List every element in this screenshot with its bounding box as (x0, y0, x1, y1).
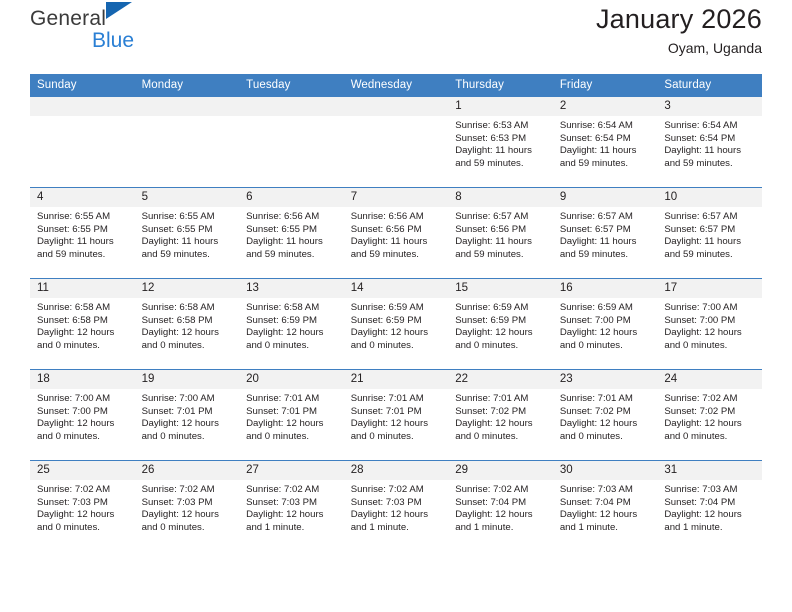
day-cell[interactable]: 20Sunrise: 7:01 AMSunset: 7:01 PMDayligh… (239, 370, 344, 461)
sunset-text: Sunset: 6:59 PM (246, 315, 336, 328)
sunset-text: Sunset: 6:59 PM (351, 315, 441, 328)
daylight-text-line2: and 0 minutes. (142, 340, 232, 353)
day-details: Sunrise: 7:02 AMSunset: 7:02 PMDaylight:… (657, 389, 762, 443)
daylight-text-line2: and 0 minutes. (246, 431, 336, 444)
day-cell[interactable]: 15Sunrise: 6:59 AMSunset: 6:59 PMDayligh… (448, 279, 553, 370)
daylight-text-line1: Daylight: 12 hours (560, 418, 650, 431)
day-details: Sunrise: 7:00 AMSunset: 7:00 PMDaylight:… (30, 389, 135, 443)
daylight-text-line2: and 0 minutes. (560, 431, 650, 444)
sunrise-text: Sunrise: 6:56 AM (246, 211, 336, 224)
daylight-text-line1: Daylight: 12 hours (246, 418, 336, 431)
day-details: Sunrise: 6:59 AMSunset: 6:59 PMDaylight:… (448, 298, 553, 352)
sunrise-text: Sunrise: 7:01 AM (455, 393, 545, 406)
daylight-text-line1: Daylight: 12 hours (142, 418, 232, 431)
day-number: 19 (135, 370, 240, 389)
daylight-text-line2: and 0 minutes. (455, 431, 545, 444)
day-details: Sunrise: 7:01 AMSunset: 7:02 PMDaylight:… (448, 389, 553, 443)
sunrise-text: Sunrise: 6:59 AM (560, 302, 650, 315)
daylight-text-line1: Daylight: 12 hours (455, 418, 545, 431)
daylight-text-line1: Daylight: 11 hours (455, 236, 545, 249)
day-number (239, 97, 344, 116)
sunset-text: Sunset: 7:03 PM (246, 497, 336, 510)
daylight-text-line2: and 0 minutes. (37, 340, 127, 353)
daylight-text-line1: Daylight: 12 hours (455, 327, 545, 340)
sunset-text: Sunset: 7:04 PM (455, 497, 545, 510)
daylight-text-line1: Daylight: 12 hours (664, 418, 754, 431)
day-number: 31 (657, 461, 762, 480)
weekday-header-wednesday: Wednesday (344, 74, 449, 97)
daylight-text-line2: and 1 minute. (560, 522, 650, 535)
sunset-text: Sunset: 6:55 PM (142, 224, 232, 237)
page-subtitle: Oyam, Uganda (596, 38, 762, 58)
day-number: 9 (553, 188, 658, 207)
day-number: 23 (553, 370, 658, 389)
day-cell[interactable]: 28Sunrise: 7:02 AMSunset: 7:03 PMDayligh… (344, 461, 449, 552)
daylight-text-line1: Daylight: 12 hours (142, 509, 232, 522)
day-details: Sunrise: 6:58 AMSunset: 6:58 PMDaylight:… (135, 298, 240, 352)
day-number: 20 (239, 370, 344, 389)
daylight-text-line1: Daylight: 12 hours (455, 509, 545, 522)
day-number: 14 (344, 279, 449, 298)
sunset-text: Sunset: 7:01 PM (142, 406, 232, 419)
day-details: Sunrise: 6:57 AMSunset: 6:56 PMDaylight:… (448, 207, 553, 261)
day-cell[interactable]: 16Sunrise: 6:59 AMSunset: 7:00 PMDayligh… (553, 279, 658, 370)
sunset-text: Sunset: 6:53 PM (455, 133, 545, 146)
day-details: Sunrise: 7:02 AMSunset: 7:03 PMDaylight:… (30, 480, 135, 534)
sunset-text: Sunset: 7:03 PM (142, 497, 232, 510)
sunrise-text: Sunrise: 6:53 AM (455, 120, 545, 133)
day-details: Sunrise: 6:59 AMSunset: 7:00 PMDaylight:… (553, 298, 658, 352)
week-row: 25Sunrise: 7:02 AMSunset: 7:03 PMDayligh… (30, 461, 762, 552)
daylight-text-line2: and 59 minutes. (455, 249, 545, 262)
sunrise-text: Sunrise: 7:01 AM (246, 393, 336, 406)
day-cell[interactable]: 6Sunrise: 6:56 AMSunset: 6:55 PMDaylight… (239, 188, 344, 279)
day-details: Sunrise: 6:53 AMSunset: 6:53 PMDaylight:… (448, 116, 553, 170)
sunset-text: Sunset: 7:02 PM (560, 406, 650, 419)
day-cell[interactable]: 4Sunrise: 6:55 AMSunset: 6:55 PMDaylight… (30, 188, 135, 279)
day-cell[interactable]: 11Sunrise: 6:58 AMSunset: 6:58 PMDayligh… (30, 279, 135, 370)
sunrise-text: Sunrise: 7:02 AM (455, 484, 545, 497)
sunrise-text: Sunrise: 7:01 AM (351, 393, 441, 406)
weekday-header-monday: Monday (135, 74, 240, 97)
sunrise-text: Sunrise: 6:58 AM (142, 302, 232, 315)
daylight-text-line1: Daylight: 11 hours (455, 145, 545, 158)
day-number: 13 (239, 279, 344, 298)
daylight-text-line1: Daylight: 11 hours (246, 236, 336, 249)
day-number: 21 (344, 370, 449, 389)
sunrise-text: Sunrise: 6:57 AM (664, 211, 754, 224)
daylight-text-line1: Daylight: 12 hours (37, 418, 127, 431)
day-number: 22 (448, 370, 553, 389)
sunrise-text: Sunrise: 7:03 AM (560, 484, 650, 497)
daylight-text-line2: and 1 minute. (246, 522, 336, 535)
daylight-text-line1: Daylight: 12 hours (560, 509, 650, 522)
sunset-text: Sunset: 6:58 PM (37, 315, 127, 328)
daylight-text-line2: and 0 minutes. (246, 340, 336, 353)
sunrise-text: Sunrise: 7:02 AM (246, 484, 336, 497)
day-details: Sunrise: 6:56 AMSunset: 6:55 PMDaylight:… (239, 207, 344, 261)
day-number: 26 (135, 461, 240, 480)
day-details: Sunrise: 6:58 AMSunset: 6:59 PMDaylight:… (239, 298, 344, 352)
sunset-text: Sunset: 6:56 PM (351, 224, 441, 237)
daylight-text-line2: and 59 minutes. (37, 249, 127, 262)
daylight-text-line2: and 0 minutes. (664, 431, 754, 444)
daylight-text-line2: and 0 minutes. (142, 522, 232, 535)
day-cell[interactable]: 7Sunrise: 6:56 AMSunset: 6:56 PMDaylight… (344, 188, 449, 279)
day-details: Sunrise: 7:02 AMSunset: 7:03 PMDaylight:… (239, 480, 344, 534)
day-number: 10 (657, 188, 762, 207)
day-details: Sunrise: 6:58 AMSunset: 6:58 PMDaylight:… (30, 298, 135, 352)
brand-name-top: General (30, 8, 106, 30)
day-details: Sunrise: 6:55 AMSunset: 6:55 PMDaylight:… (30, 207, 135, 261)
sunset-text: Sunset: 7:01 PM (351, 406, 441, 419)
day-number: 4 (30, 188, 135, 207)
day-number (135, 97, 240, 116)
day-number: 5 (135, 188, 240, 207)
day-number: 29 (448, 461, 553, 480)
daylight-text-line1: Daylight: 12 hours (37, 327, 127, 340)
day-cell[interactable]: 9Sunrise: 6:57 AMSunset: 6:57 PMDaylight… (553, 188, 658, 279)
calendar-grid: SundayMondayTuesdayWednesdayThursdayFrid… (30, 74, 762, 551)
sunset-text: Sunset: 6:55 PM (37, 224, 127, 237)
day-cell[interactable]: 25Sunrise: 7:02 AMSunset: 7:03 PMDayligh… (30, 461, 135, 552)
calendar-page: General Blue January 2026 Oyam, Uganda S… (0, 0, 792, 612)
sunrise-text: Sunrise: 6:58 AM (37, 302, 127, 315)
daylight-text-line2: and 59 minutes. (246, 249, 336, 262)
sunset-text: Sunset: 7:00 PM (664, 315, 754, 328)
daylight-text-line2: and 0 minutes. (560, 340, 650, 353)
daylight-text-line1: Daylight: 12 hours (560, 327, 650, 340)
day-details: Sunrise: 6:59 AMSunset: 6:59 PMDaylight:… (344, 298, 449, 352)
sunset-text: Sunset: 7:04 PM (560, 497, 650, 510)
day-cell-empty (135, 97, 240, 188)
sunset-text: Sunset: 6:56 PM (455, 224, 545, 237)
day-cell[interactable]: 31Sunrise: 7:03 AMSunset: 7:04 PMDayligh… (657, 461, 762, 552)
sunrise-text: Sunrise: 7:00 AM (37, 393, 127, 406)
daylight-text-line2: and 59 minutes. (351, 249, 441, 262)
day-details: Sunrise: 7:01 AMSunset: 7:01 PMDaylight:… (239, 389, 344, 443)
daylight-text-line1: Daylight: 11 hours (142, 236, 232, 249)
sunset-text: Sunset: 7:02 PM (664, 406, 754, 419)
triangle-flag-icon (106, 2, 132, 19)
day-number: 17 (657, 279, 762, 298)
day-number: 11 (30, 279, 135, 298)
daylight-text-line2: and 1 minute. (351, 522, 441, 535)
sunrise-text: Sunrise: 6:59 AM (455, 302, 545, 315)
sunset-text: Sunset: 6:57 PM (560, 224, 650, 237)
day-number: 25 (30, 461, 135, 480)
day-cell-empty (344, 97, 449, 188)
sunset-text: Sunset: 7:02 PM (455, 406, 545, 419)
sunrise-text: Sunrise: 6:55 AM (142, 211, 232, 224)
sunset-text: Sunset: 7:04 PM (664, 497, 754, 510)
week-row: 4Sunrise: 6:55 AMSunset: 6:55 PMDaylight… (30, 188, 762, 279)
page-header: General Blue January 2026 Oyam, Uganda (30, 0, 762, 74)
daylight-text-line2: and 0 minutes. (37, 522, 127, 535)
day-cell[interactable]: 17Sunrise: 7:00 AMSunset: 7:00 PMDayligh… (657, 279, 762, 370)
sunrise-text: Sunrise: 7:03 AM (664, 484, 754, 497)
sunrise-text: Sunrise: 6:55 AM (37, 211, 127, 224)
daylight-text-line1: Daylight: 11 hours (560, 236, 650, 249)
day-details: Sunrise: 7:00 AMSunset: 7:00 PMDaylight:… (657, 298, 762, 352)
day-details: Sunrise: 7:00 AMSunset: 7:01 PMDaylight:… (135, 389, 240, 443)
day-number: 24 (657, 370, 762, 389)
sunset-text: Sunset: 7:03 PM (37, 497, 127, 510)
day-number: 15 (448, 279, 553, 298)
day-number: 28 (344, 461, 449, 480)
daylight-text-line2: and 59 minutes. (142, 249, 232, 262)
calendar-header-row: SundayMondayTuesdayWednesdayThursdayFrid… (30, 74, 762, 97)
day-number (344, 97, 449, 116)
week-row: 1Sunrise: 6:53 AMSunset: 6:53 PMDaylight… (30, 97, 762, 188)
day-number: 27 (239, 461, 344, 480)
daylight-text-line2: and 0 minutes. (351, 340, 441, 353)
day-number: 2 (553, 97, 658, 116)
daylight-text-line1: Daylight: 12 hours (246, 509, 336, 522)
daylight-text-line2: and 1 minute. (664, 522, 754, 535)
sunset-text: Sunset: 6:58 PM (142, 315, 232, 328)
page-title: January 2026 (596, 2, 762, 36)
day-cell[interactable]: 14Sunrise: 6:59 AMSunset: 6:59 PMDayligh… (344, 279, 449, 370)
day-cell[interactable]: 10Sunrise: 6:57 AMSunset: 6:57 PMDayligh… (657, 188, 762, 279)
daylight-text-line2: and 0 minutes. (142, 431, 232, 444)
day-details: Sunrise: 6:54 AMSunset: 6:54 PMDaylight:… (657, 116, 762, 170)
day-cell-empty (30, 97, 135, 188)
day-number: 6 (239, 188, 344, 207)
weekday-header-thursday: Thursday (448, 74, 553, 97)
daylight-text-line2: and 1 minute. (455, 522, 545, 535)
sunset-text: Sunset: 6:57 PM (664, 224, 754, 237)
weekday-header-saturday: Saturday (657, 74, 762, 97)
sunrise-text: Sunrise: 6:58 AM (246, 302, 336, 315)
daylight-text-line2: and 0 minutes. (664, 340, 754, 353)
weekday-header: SundayMondayTuesdayWednesdayThursdayFrid… (30, 74, 762, 97)
sunset-text: Sunset: 6:54 PM (664, 133, 754, 146)
calendar-body: 1Sunrise: 6:53 AMSunset: 6:53 PMDaylight… (30, 97, 762, 552)
title-block: January 2026 Oyam, Uganda (596, 0, 762, 58)
daylight-text-line2: and 0 minutes. (37, 431, 127, 444)
brand-name-bottom: Blue (92, 31, 210, 51)
daylight-text-line1: Daylight: 11 hours (664, 236, 754, 249)
day-details: Sunrise: 7:02 AMSunset: 7:04 PMDaylight:… (448, 480, 553, 534)
daylight-text-line1: Daylight: 11 hours (351, 236, 441, 249)
day-cell[interactable]: 12Sunrise: 6:58 AMSunset: 6:58 PMDayligh… (135, 279, 240, 370)
day-number: 8 (448, 188, 553, 207)
day-number: 3 (657, 97, 762, 116)
day-cell[interactable]: 21Sunrise: 7:01 AMSunset: 7:01 PMDayligh… (344, 370, 449, 461)
sunrise-text: Sunrise: 6:56 AM (351, 211, 441, 224)
day-number: 12 (135, 279, 240, 298)
sunset-text: Sunset: 7:03 PM (351, 497, 441, 510)
daylight-text-line2: and 59 minutes. (455, 158, 545, 171)
daylight-text-line1: Daylight: 11 hours (37, 236, 127, 249)
day-cell[interactable]: 2Sunrise: 6:54 AMSunset: 6:54 PMDaylight… (553, 97, 658, 188)
day-cell[interactable]: 3Sunrise: 6:54 AMSunset: 6:54 PMDaylight… (657, 97, 762, 188)
sunrise-text: Sunrise: 6:59 AM (351, 302, 441, 315)
day-details: Sunrise: 6:56 AMSunset: 6:56 PMDaylight:… (344, 207, 449, 261)
day-details: Sunrise: 7:01 AMSunset: 7:01 PMDaylight:… (344, 389, 449, 443)
day-cell[interactable]: 24Sunrise: 7:02 AMSunset: 7:02 PMDayligh… (657, 370, 762, 461)
sunrise-text: Sunrise: 7:01 AM (560, 393, 650, 406)
sunrise-text: Sunrise: 7:02 AM (142, 484, 232, 497)
sunset-text: Sunset: 7:00 PM (37, 406, 127, 419)
daylight-text-line1: Daylight: 12 hours (246, 327, 336, 340)
day-details: Sunrise: 7:03 AMSunset: 7:04 PMDaylight:… (553, 480, 658, 534)
day-cell[interactable]: 29Sunrise: 7:02 AMSunset: 7:04 PMDayligh… (448, 461, 553, 552)
daylight-text-line1: Daylight: 12 hours (351, 418, 441, 431)
daylight-text-line2: and 59 minutes. (664, 249, 754, 262)
day-cell[interactable]: 19Sunrise: 7:00 AMSunset: 7:01 PMDayligh… (135, 370, 240, 461)
day-cell[interactable]: 18Sunrise: 7:00 AMSunset: 7:00 PMDayligh… (30, 370, 135, 461)
brand-logo[interactable]: General Blue (30, 0, 210, 64)
daylight-text-line1: Daylight: 12 hours (664, 509, 754, 522)
week-row: 11Sunrise: 6:58 AMSunset: 6:58 PMDayligh… (30, 279, 762, 370)
day-cell[interactable]: 27Sunrise: 7:02 AMSunset: 7:03 PMDayligh… (239, 461, 344, 552)
daylight-text-line2: and 0 minutes. (351, 431, 441, 444)
weekday-header-friday: Friday (553, 74, 658, 97)
sunrise-text: Sunrise: 7:02 AM (351, 484, 441, 497)
sunrise-text: Sunrise: 6:57 AM (455, 211, 545, 224)
daylight-text-line2: and 59 minutes. (560, 249, 650, 262)
day-cell[interactable]: 5Sunrise: 6:55 AMSunset: 6:55 PMDaylight… (135, 188, 240, 279)
day-details: Sunrise: 6:57 AMSunset: 6:57 PMDaylight:… (657, 207, 762, 261)
day-number: 18 (30, 370, 135, 389)
daylight-text-line1: Daylight: 12 hours (664, 327, 754, 340)
daylight-text-line1: Daylight: 11 hours (664, 145, 754, 158)
sunset-text: Sunset: 7:00 PM (560, 315, 650, 328)
daylight-text-line1: Daylight: 12 hours (37, 509, 127, 522)
day-number: 30 (553, 461, 658, 480)
week-row: 18Sunrise: 7:00 AMSunset: 7:00 PMDayligh… (30, 370, 762, 461)
sunset-text: Sunset: 6:55 PM (246, 224, 336, 237)
sunrise-text: Sunrise: 6:54 AM (560, 120, 650, 133)
daylight-text-line1: Daylight: 12 hours (351, 327, 441, 340)
day-cell-empty (239, 97, 344, 188)
day-cell[interactable]: 23Sunrise: 7:01 AMSunset: 7:02 PMDayligh… (553, 370, 658, 461)
day-details: Sunrise: 7:01 AMSunset: 7:02 PMDaylight:… (553, 389, 658, 443)
daylight-text-line1: Daylight: 12 hours (351, 509, 441, 522)
day-number (30, 97, 135, 116)
day-number: 7 (344, 188, 449, 207)
day-number: 16 (553, 279, 658, 298)
sunrise-text: Sunrise: 6:57 AM (560, 211, 650, 224)
sunrise-text: Sunrise: 6:54 AM (664, 120, 754, 133)
sunset-text: Sunset: 6:59 PM (455, 315, 545, 328)
sunrise-text: Sunrise: 7:02 AM (37, 484, 127, 497)
day-cell[interactable]: 13Sunrise: 6:58 AMSunset: 6:59 PMDayligh… (239, 279, 344, 370)
day-cell[interactable]: 26Sunrise: 7:02 AMSunset: 7:03 PMDayligh… (135, 461, 240, 552)
day-details: Sunrise: 7:02 AMSunset: 7:03 PMDaylight:… (344, 480, 449, 534)
daylight-text-line2: and 0 minutes. (455, 340, 545, 353)
day-details: Sunrise: 6:55 AMSunset: 6:55 PMDaylight:… (135, 207, 240, 261)
weekday-header-sunday: Sunday (30, 74, 135, 97)
day-cell[interactable]: 30Sunrise: 7:03 AMSunset: 7:04 PMDayligh… (553, 461, 658, 552)
weekday-header-tuesday: Tuesday (239, 74, 344, 97)
day-cell[interactable]: 8Sunrise: 6:57 AMSunset: 6:56 PMDaylight… (448, 188, 553, 279)
day-details: Sunrise: 7:03 AMSunset: 7:04 PMDaylight:… (657, 480, 762, 534)
daylight-text-line1: Daylight: 11 hours (560, 145, 650, 158)
day-cell[interactable]: 22Sunrise: 7:01 AMSunset: 7:02 PMDayligh… (448, 370, 553, 461)
sunrise-text: Sunrise: 7:02 AM (664, 393, 754, 406)
day-number: 1 (448, 97, 553, 116)
daylight-text-line2: and 59 minutes. (560, 158, 650, 171)
sunset-text: Sunset: 6:54 PM (560, 133, 650, 146)
daylight-text-line2: and 59 minutes. (664, 158, 754, 171)
sunrise-text: Sunrise: 7:00 AM (142, 393, 232, 406)
sunset-text: Sunset: 7:01 PM (246, 406, 336, 419)
day-details: Sunrise: 6:57 AMSunset: 6:57 PMDaylight:… (553, 207, 658, 261)
daylight-text-line1: Daylight: 12 hours (142, 327, 232, 340)
day-cell[interactable]: 1Sunrise: 6:53 AMSunset: 6:53 PMDaylight… (448, 97, 553, 188)
day-details: Sunrise: 7:02 AMSunset: 7:03 PMDaylight:… (135, 480, 240, 534)
day-details: Sunrise: 6:54 AMSunset: 6:54 PMDaylight:… (553, 116, 658, 170)
sunrise-text: Sunrise: 7:00 AM (664, 302, 754, 315)
